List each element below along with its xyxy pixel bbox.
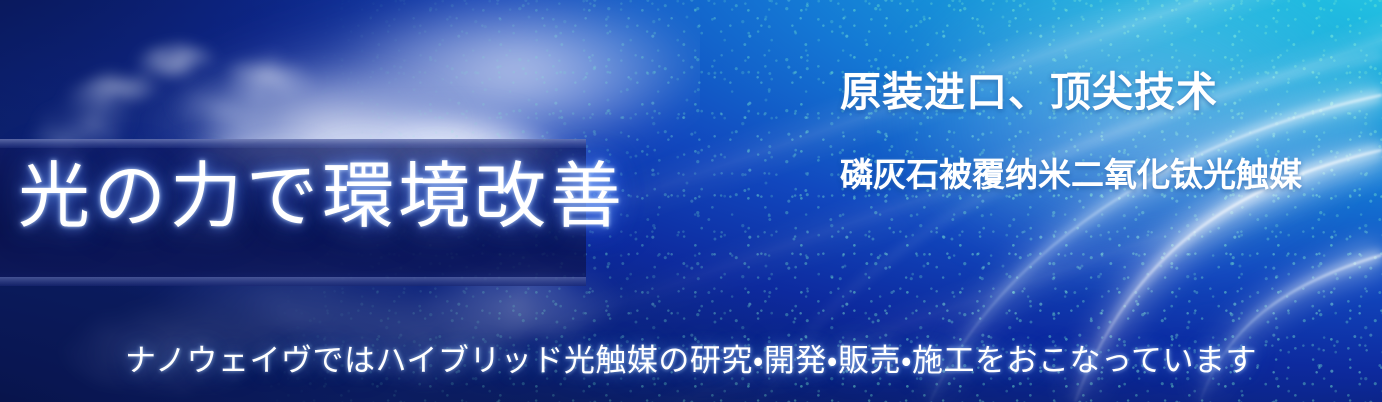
company-tagline: ナノウェイヴではハイブリッド光触媒の研究・開発・販売・施工をおこなっています	[0, 346, 1382, 377]
promo-headline-primary: 原装进口、顶尖技术	[840, 72, 1218, 113]
band-stripe-top	[0, 139, 586, 148]
main-headline: 光の力で環境改善	[18, 160, 626, 232]
hero-banner: 光の力で環境改善 原装进口、顶尖技术 磷灰石被覆纳米二氧化钛光触媒 ナノウェイヴ…	[0, 0, 1382, 402]
promo-headline-secondary: 磷灰石被覆纳米二氧化钛光触媒	[840, 158, 1302, 191]
band-stripe-bottom	[0, 277, 586, 286]
